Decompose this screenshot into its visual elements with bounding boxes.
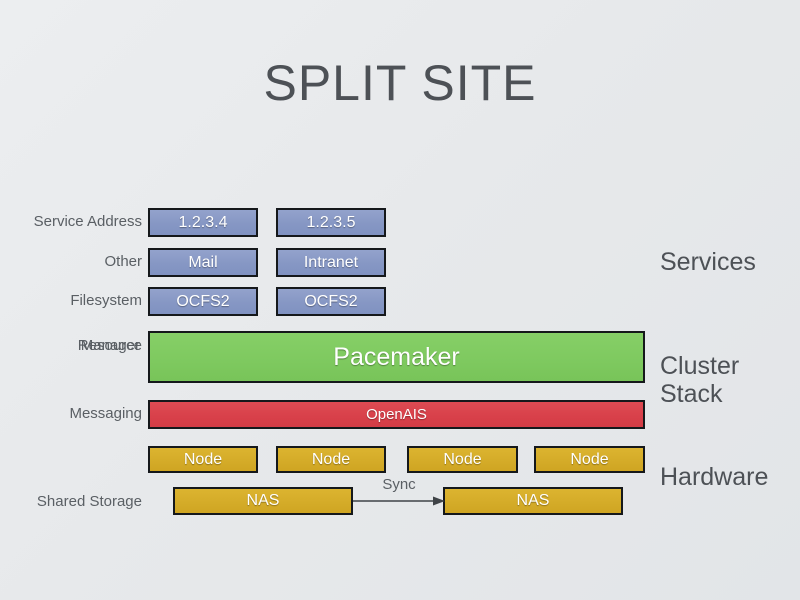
- box-other-mail[interactable]: Mail: [148, 248, 258, 277]
- row-label-resource-manager-line2: Manager: [0, 337, 140, 355]
- box-filesystem-1[interactable]: OCFS2: [148, 287, 258, 316]
- sync-connector-label: Sync: [353, 476, 445, 493]
- group-label-hardware: Hardware: [660, 464, 800, 492]
- box-node-4[interactable]: Node: [534, 446, 645, 473]
- group-label-cluster-stack: Cluster Stack: [660, 353, 800, 408]
- page-title: SPLIT SITE: [0, 58, 800, 108]
- box-pacemaker[interactable]: Pacemaker: [148, 331, 645, 383]
- box-openais[interactable]: OpenAIS: [148, 400, 645, 429]
- box-service-address-1[interactable]: 1.2.3.4: [148, 208, 258, 237]
- row-label-filesystem-text: Filesystem: [2, 292, 142, 310]
- row-label-shared-storage-text: Shared Storage: [2, 493, 142, 511]
- group-label-cluster-stack-line1: Cluster: [660, 353, 800, 381]
- box-nas-2[interactable]: NAS: [443, 487, 623, 515]
- row-label-other-text: Other: [2, 253, 142, 271]
- sync-arrow-icon: [353, 494, 445, 508]
- box-node-3[interactable]: Node: [407, 446, 518, 473]
- box-node-1[interactable]: Node: [148, 446, 258, 473]
- box-filesystem-2[interactable]: OCFS2: [276, 287, 386, 316]
- box-nas-1[interactable]: NAS: [173, 487, 353, 515]
- row-label-resource-manager: Resource Manager: [0, 337, 142, 355]
- slide-canvas: SPLIT SITE Service Address Other Filesys…: [0, 0, 800, 600]
- box-node-2[interactable]: Node: [276, 446, 386, 473]
- group-label-cluster-stack-line2: Stack: [660, 381, 800, 409]
- box-other-intranet[interactable]: Intranet: [276, 248, 386, 277]
- row-label-messaging-text: Messaging: [2, 405, 142, 423]
- row-label-service-address-text: Service Address: [2, 213, 142, 231]
- group-label-services: Services: [660, 249, 800, 277]
- box-service-address-2[interactable]: 1.2.3.5: [276, 208, 386, 237]
